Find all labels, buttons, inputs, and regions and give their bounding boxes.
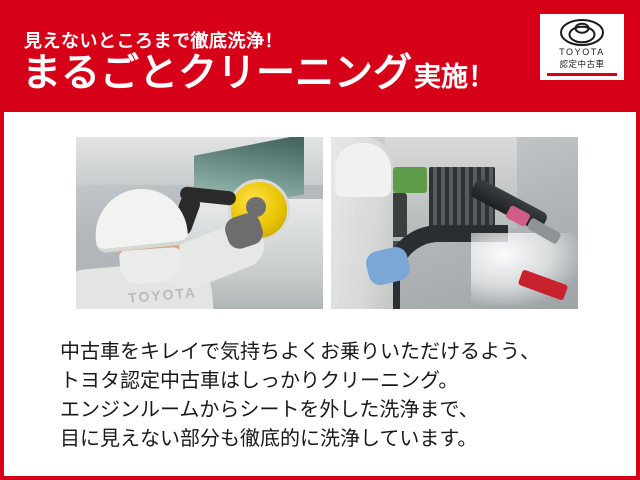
toyota-certified-logo: TOYOTA 認定中古車 bbox=[540, 14, 624, 80]
promo-poster: 見えないところまで徹底洗浄！ まるごとクリーニング 実施！ TOYOTA 認定中… bbox=[0, 0, 640, 480]
toyota-ellipses-icon bbox=[560, 19, 604, 46]
caption-line-3: エンジンルームからシートを外した洗浄まで、 bbox=[60, 396, 580, 425]
photo2-green-component bbox=[393, 167, 427, 193]
photo-exterior-polishing: TOYOTA bbox=[76, 137, 323, 309]
logo-underline bbox=[547, 73, 617, 76]
toyota-wordmark: TOYOTA bbox=[559, 47, 605, 57]
header-title-group: まるごとクリーニング 実施！ bbox=[22, 54, 495, 93]
photo2-worker-hood bbox=[335, 143, 391, 197]
caption-line-2: トヨタ認定中古車はしっかりクリーニング。 bbox=[60, 367, 580, 396]
certified-used-car-label: 認定中古車 bbox=[559, 58, 604, 70]
caption-line-1: 中古車をキレイで気持ちよくお乗りいただけるよう、 bbox=[60, 338, 580, 367]
body-panel: TOYOTA 中古車をキレイで気持ちよくお乗りいた bbox=[0, 112, 640, 480]
header-kicker: 見えないところまで徹底洗浄！ bbox=[24, 27, 283, 53]
photo-engine-room-steam-cleaning bbox=[331, 137, 578, 309]
caption-line-4: 目に見えない部分も徹底的に洗浄しています。 bbox=[60, 425, 580, 454]
photo-row: TOYOTA bbox=[76, 137, 578, 309]
header-band: 見えないところまで徹底洗浄！ まるごとクリーニング 実施！ TOYOTA 認定中… bbox=[0, 0, 640, 112]
page-title-suffix: 実施！ bbox=[414, 64, 495, 91]
page-title: まるごとクリーニング bbox=[22, 54, 412, 93]
caption-block: 中古車をキレイで気持ちよくお乗りいただけるよう、 トヨタ認定中古車はしっかりクリ… bbox=[60, 338, 580, 454]
